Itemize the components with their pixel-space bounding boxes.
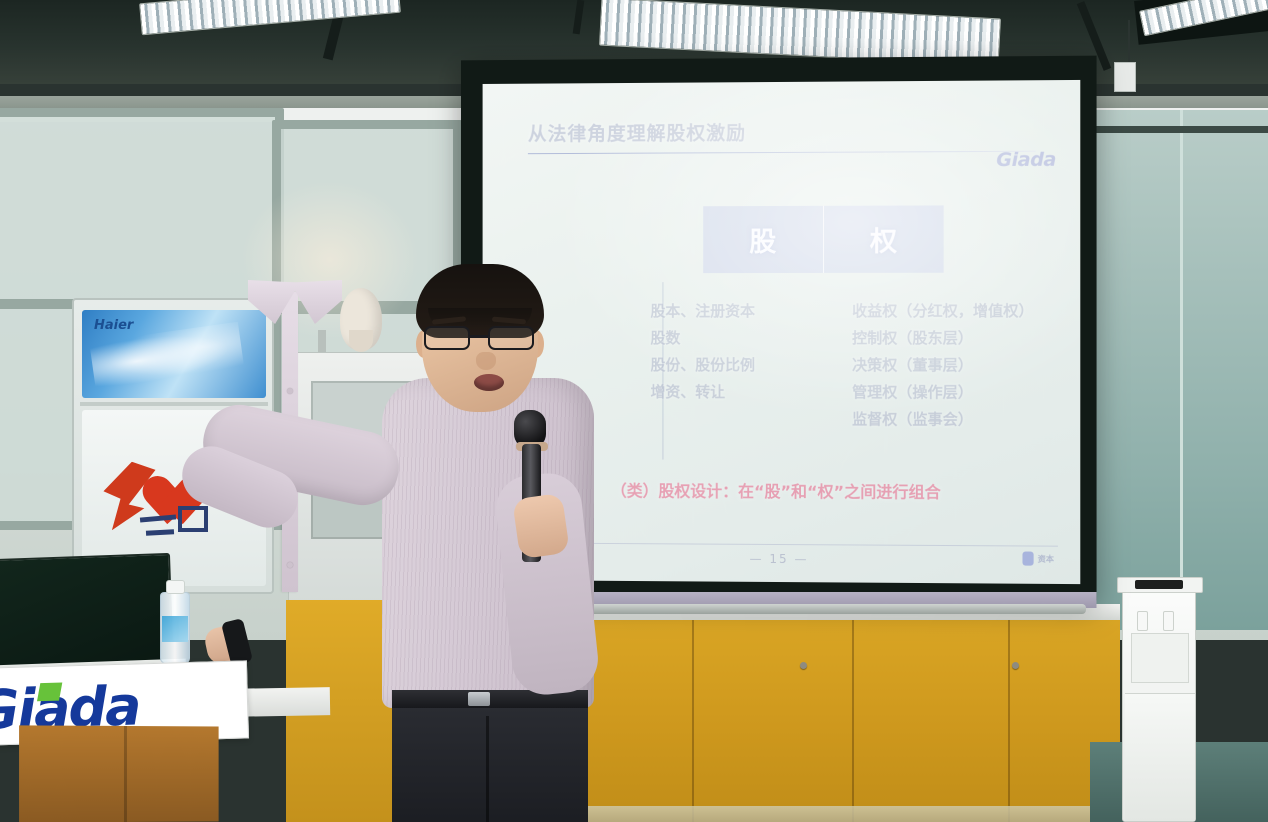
dispenser-tap[interactable] xyxy=(1163,611,1174,631)
giada-logo: Giada xyxy=(996,149,1056,171)
cabinet-seam xyxy=(692,620,694,822)
glasses-lens-left xyxy=(424,326,470,350)
left-column: 股本、注册资本 股数 股份、股份比例 增资、转让 xyxy=(651,298,831,433)
slide-highlight-note: （类）股权设计：在“股”和“权”之间进行组合 xyxy=(611,477,941,502)
presenter-mouth xyxy=(474,374,504,391)
wall-corner-edge xyxy=(1180,110,1183,630)
list-item: 控制权（股东层） xyxy=(852,325,1072,352)
sponsor-logo-text: 资本 xyxy=(1038,553,1054,564)
header-cell-quan: 权 xyxy=(823,205,944,272)
room-scene: Haier xyxy=(0,0,1268,822)
pendant-wire xyxy=(1128,20,1130,68)
list-item: 股本、注册资本 xyxy=(651,298,831,325)
cabinet-knob[interactable] xyxy=(800,662,807,669)
list-item: 股份、股份比例 xyxy=(651,352,831,379)
dispenser-drip-tray xyxy=(1131,633,1189,683)
dispenser-tap[interactable] xyxy=(1137,611,1148,631)
dispenser-control-panel[interactable] xyxy=(1135,580,1183,589)
belt-buckle xyxy=(468,692,490,706)
ceiling-beam xyxy=(573,0,585,34)
laptop[interactable] xyxy=(0,553,174,675)
title-underline xyxy=(528,151,1036,154)
cabinet-knob[interactable] xyxy=(1012,662,1019,669)
shirt-button xyxy=(287,388,293,394)
cabinet-seam xyxy=(852,620,854,822)
right-wall xyxy=(1090,110,1268,630)
shirt-button xyxy=(287,562,293,568)
dispenser-cabinet xyxy=(1125,693,1195,821)
list-item: 决策权（董事层） xyxy=(852,352,1072,379)
wall-trim xyxy=(1090,126,1268,133)
glasses-bridge xyxy=(470,335,488,338)
sponsor-logo-mark xyxy=(1022,552,1033,566)
list-item: 监督权（监事会） xyxy=(852,406,1072,434)
bottle-label xyxy=(162,616,188,642)
presenter xyxy=(186,268,656,822)
presenter-glasses xyxy=(422,326,540,352)
list-item: 收益权（分红权，增值权） xyxy=(852,298,1072,325)
giada-logo-text: Giada xyxy=(996,149,1056,171)
calligraphy-stroke xyxy=(146,529,174,535)
presenter-trousers xyxy=(392,698,588,822)
water-dispenser[interactable] xyxy=(1122,588,1196,822)
right-column: 收益权（分红权，增值权） 控制权（股东层） 决策权（董事层） 管理权（操作层） … xyxy=(830,298,1072,434)
podium-logo-accent xyxy=(37,683,62,702)
pendant-fixture xyxy=(1114,62,1136,92)
trouser-seam xyxy=(486,716,489,822)
glasses-lens-right xyxy=(488,326,534,350)
cabinet-seam xyxy=(1008,620,1010,822)
list-item: 增资、转让 xyxy=(651,379,831,406)
presenter-nose xyxy=(476,352,496,370)
footer-sponsor-logo: 资本 xyxy=(1022,552,1053,566)
bottle-cap xyxy=(166,580,185,594)
list-item: 管理权（操作层） xyxy=(852,379,1072,407)
list-item: 股数 xyxy=(651,325,831,352)
podium-body xyxy=(19,725,219,822)
slide-header-table: 股 权 xyxy=(703,205,943,273)
haier-brand-label: Haier xyxy=(94,318,133,333)
slide-title: 从法律角度理解股权激励 xyxy=(528,116,1040,146)
slide-columns: 股本、注册资本 股数 股份、股份比例 增资、转让 收益权（分红权，增值权） 控制… xyxy=(651,298,1073,434)
presenter-right-hand xyxy=(512,493,570,559)
header-cell-gu: 股 xyxy=(703,206,822,273)
